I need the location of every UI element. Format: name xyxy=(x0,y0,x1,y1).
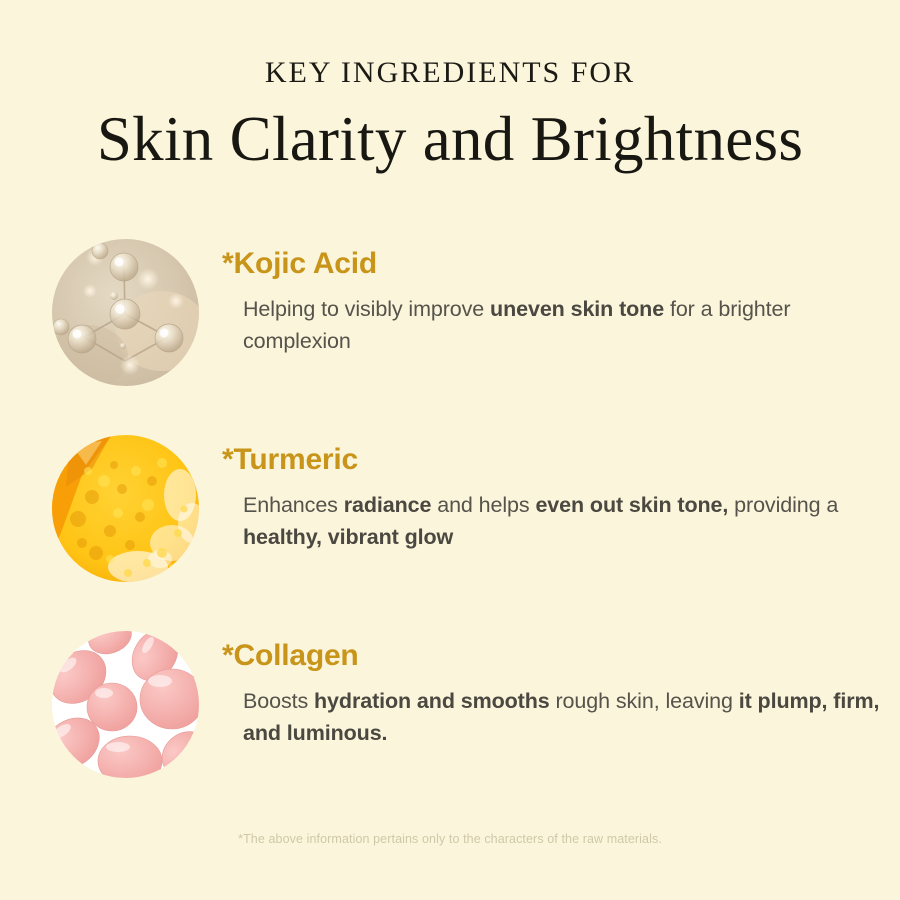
ingredient-description: Boosts hydration and smooths rough skin,… xyxy=(243,685,882,750)
kicker-text: KEY INGREDIENTS FOR xyxy=(0,58,900,88)
ingredient-text-collagen: *Collagen Boosts hydration and smooths r… xyxy=(222,639,882,750)
infographic-page: KEY INGREDIENTS FOR Skin Clarity and Bri… xyxy=(0,0,900,900)
header: KEY INGREDIENTS FOR Skin Clarity and Bri… xyxy=(0,0,900,173)
ingredient-row-turmeric: *Turmeric Enhances radiance and helps ev… xyxy=(0,435,900,631)
ingredient-text-kojic-acid: *Kojic Acid Helping to visibly improve u… xyxy=(222,247,882,358)
collagen-capsules-image xyxy=(52,631,199,778)
page-title: Skin Clarity and Brightness xyxy=(0,105,900,173)
kojic-acid-molecule-image xyxy=(52,239,199,386)
ingredient-text-turmeric: *Turmeric Enhances radiance and helps ev… xyxy=(222,443,882,554)
ingredient-description: Enhances radiance and helps even out ski… xyxy=(243,489,882,554)
ingredient-row-kojic-acid: *Kojic Acid Helping to visibly improve u… xyxy=(0,239,900,435)
turmeric-powder-image xyxy=(52,435,199,582)
ingredient-description: Helping to visibly improve uneven skin t… xyxy=(243,293,882,358)
ingredient-list: *Kojic Acid Helping to visibly improve u… xyxy=(0,239,900,827)
ingredient-name: *Kojic Acid xyxy=(222,247,882,282)
footnote-text: *The above information pertains only to … xyxy=(0,832,900,846)
ingredient-row-collagen: *Collagen Boosts hydration and smooths r… xyxy=(0,631,900,827)
ingredient-name: *Turmeric xyxy=(222,443,882,478)
ingredient-name: *Collagen xyxy=(222,639,882,674)
